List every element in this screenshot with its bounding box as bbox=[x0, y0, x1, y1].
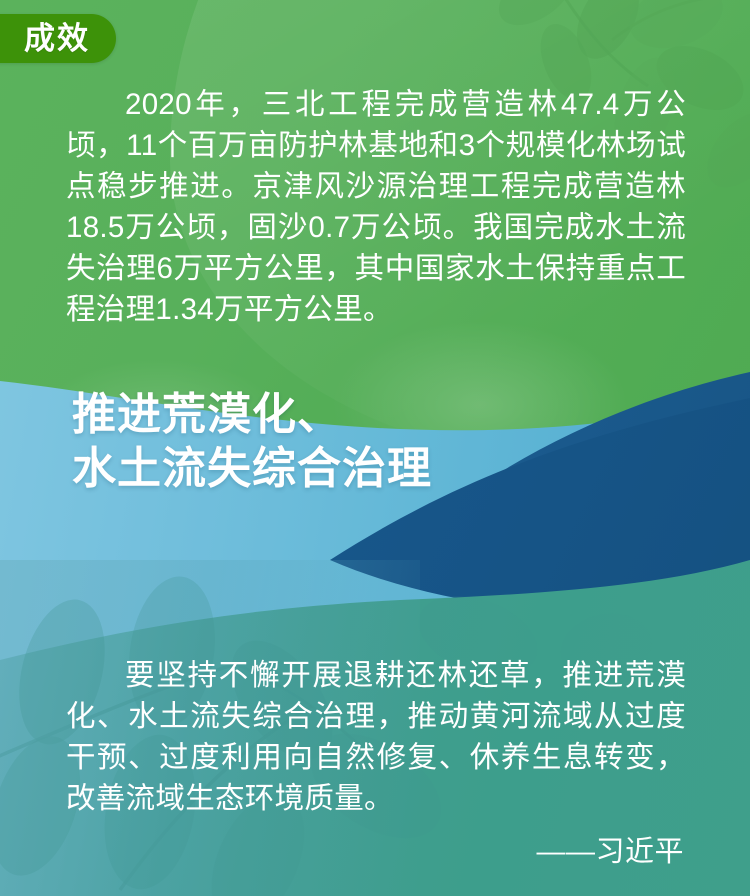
statistics-paragraph: 2020年，三北工程完成营造林47.4万公顷，11个百万亩防护林基地和3个规模化… bbox=[66, 84, 686, 330]
poster-title: 推进荒漠化、 水土流失综合治理 bbox=[72, 388, 432, 496]
quote-attribution: ——习近平 bbox=[536, 833, 684, 871]
section-badge: 成效 bbox=[0, 14, 116, 63]
poster-title-line-2: 水土流失综合治理 bbox=[72, 442, 432, 496]
quote-paragraph: 要坚持不懈开展退耕还林还草，推进荒漠化、水土流失综合治理，推动黄河流域从过度干预… bbox=[66, 655, 686, 819]
poster-title-line-1: 推进荒漠化、 bbox=[72, 388, 432, 442]
section-badge-label: 成效 bbox=[24, 23, 90, 54]
infographic-poster: 成效 2020年，三北工程完成营造林47.4万公顷，11个百万亩防护林基地和3个… bbox=[0, 0, 750, 896]
